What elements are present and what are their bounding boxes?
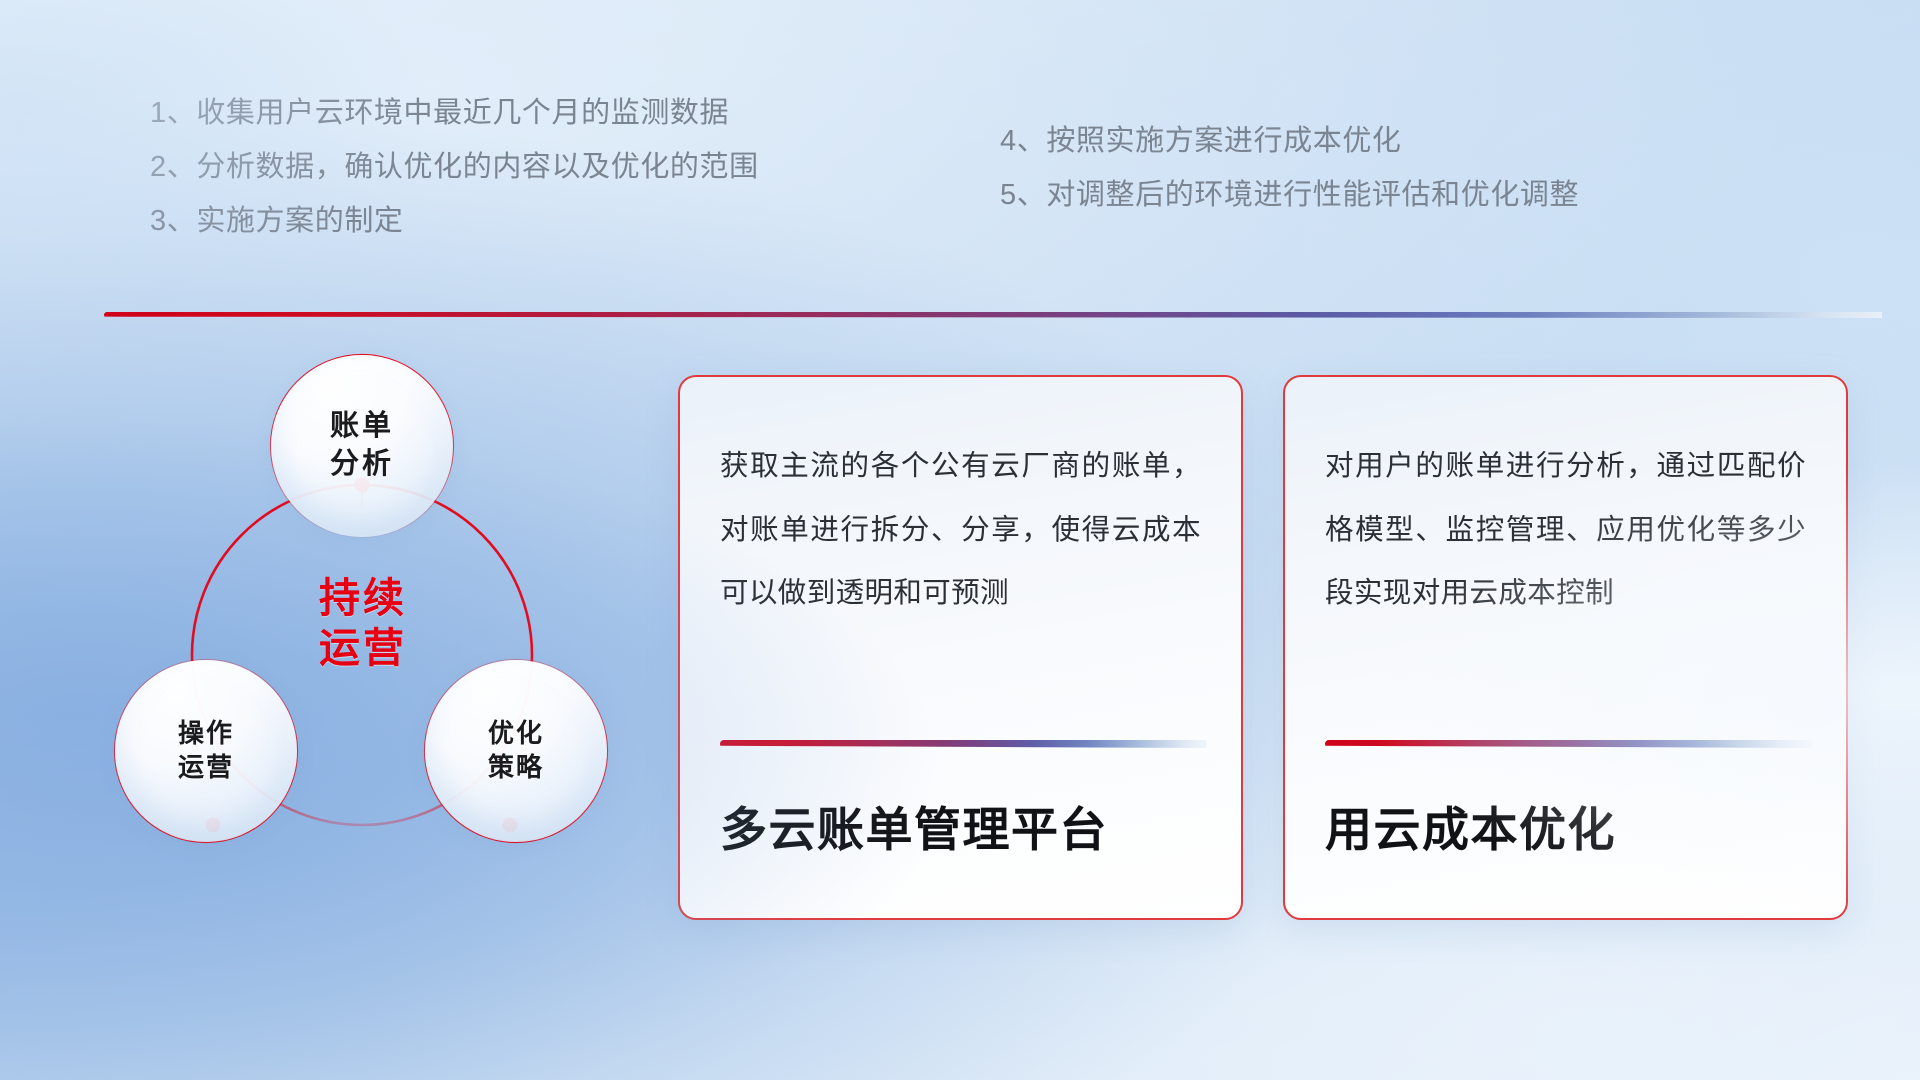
bullet-item-4: 4、按照实施方案进行成本优化 (1000, 127, 1579, 156)
venn-bubble-label-line1: 操作 (178, 717, 234, 751)
bullet-list-right: 4、按照实施方案进行成本优化 5、对调整后的环境进行性能评估和优化调整 (1000, 127, 1579, 210)
card-title: 多云账单管理平台 (720, 804, 1108, 856)
feature-card-multi-cloud-billing-platform[interactable]: 获取主流的各个公有云厂商的账单，对账单进行拆分、分享，使得云成本可以做到透明和可… (678, 375, 1243, 920)
venn-center-label-line2: 运营 (273, 623, 453, 673)
bullet-item-1: 1、收集用户云环境中最近几个月的监测数据 (150, 99, 759, 128)
header-divider-rule (104, 312, 1882, 318)
card-body-text: 对用户的账单进行分析，通过匹配价格模型、监控管理、应用优化等多少段实现对用云成本… (1325, 435, 1806, 703)
venn-center-label-line1: 持续 (273, 573, 453, 623)
venn-bubble-label-line2: 策略 (488, 751, 544, 785)
bullet-list-left: 1、收集用户云环境中最近几个月的监测数据 2、分析数据，确认优化的内容以及优化的… (150, 99, 759, 236)
slide-canvas: 1、收集用户云环境中最近几个月的监测数据 2、分析数据，确认优化的内容以及优化的… (0, 0, 1920, 1080)
card-title: 用云成本优化 (1325, 804, 1616, 856)
venn-bubble-label-line1: 账单 (330, 408, 394, 446)
bullet-item-3: 3、实施方案的制定 (150, 207, 759, 236)
venn-bubble-operations: 操作 运营 (115, 660, 297, 842)
feature-card-cloud-cost-optimization[interactable]: 对用户的账单进行分析，通过匹配价格模型、监控管理、应用优化等多少段实现对用云成本… (1283, 375, 1848, 920)
venn-bubble-bill-analysis: 账单 分析 (271, 355, 453, 537)
card-divider-rule (720, 740, 1207, 748)
bullet-item-2: 2、分析数据，确认优化的内容以及优化的范围 (150, 153, 759, 182)
card-divider-rule (1325, 740, 1812, 748)
venn-bubble-label-line1: 优化 (488, 717, 544, 751)
venn-center-label: 持续 运营 (273, 573, 453, 673)
bullet-item-5: 5、对调整后的环境进行性能评估和优化调整 (1000, 181, 1579, 210)
venn-bubble-label-line2: 运营 (178, 751, 234, 785)
venn-diagram: 账单 分析 操作 运营 优化 策略 持续 运营 (95, 355, 655, 935)
venn-bubble-optimization: 优化 策略 (425, 660, 607, 842)
venn-bubble-label-line2: 分析 (330, 446, 394, 484)
card-body-text: 获取主流的各个公有云厂商的账单，对账单进行拆分、分享，使得云成本可以做到透明和可… (720, 435, 1201, 703)
